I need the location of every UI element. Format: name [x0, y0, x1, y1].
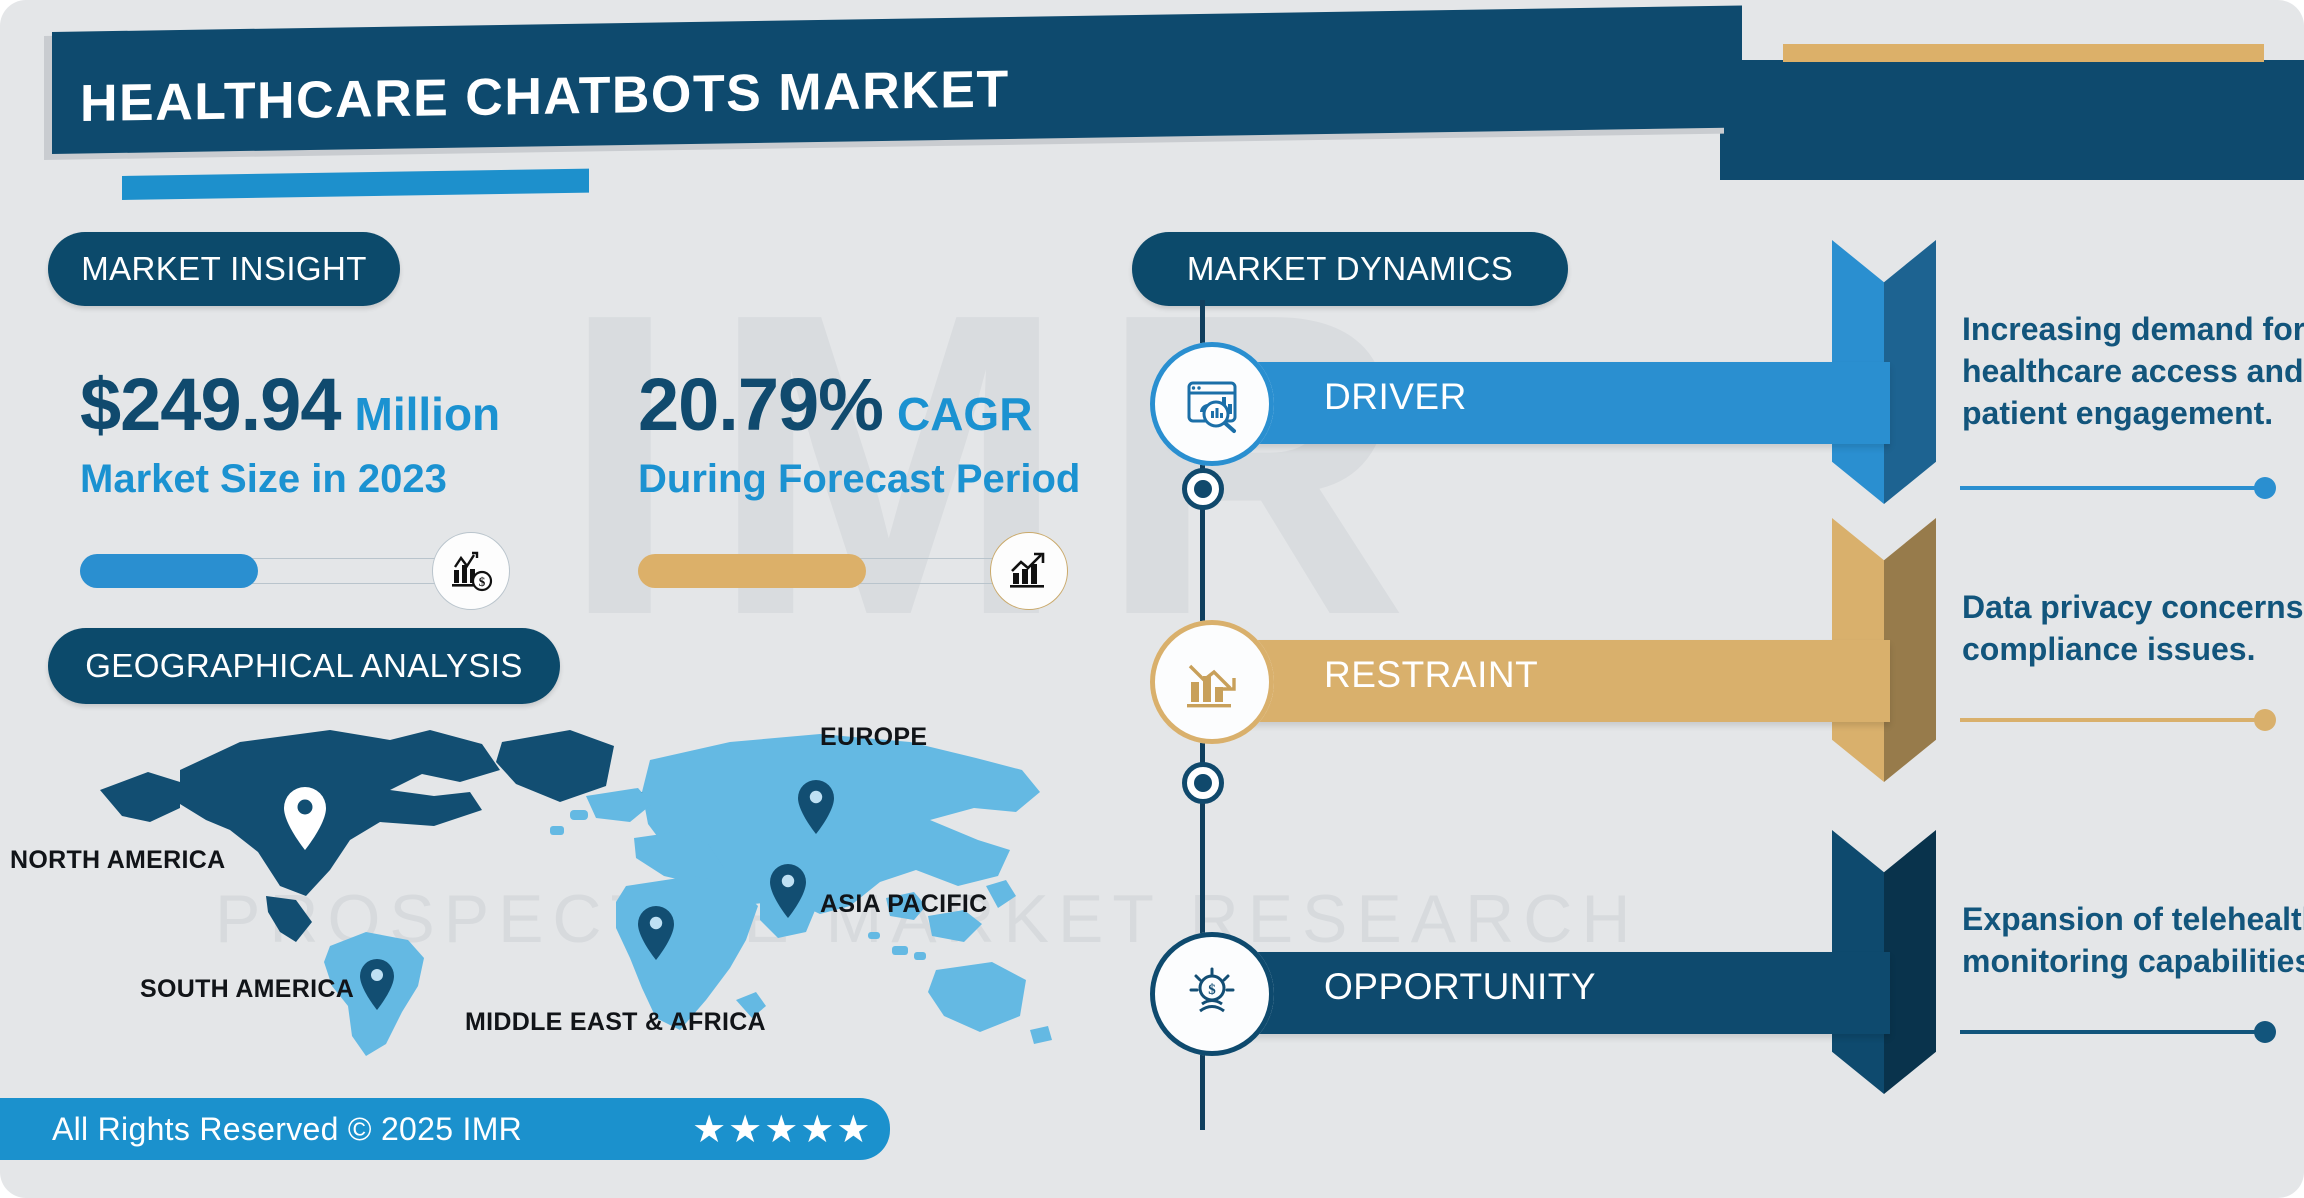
- map-label-north-america: NORTH AMERICA: [10, 846, 225, 875]
- cagr-value: 20.79%: [638, 362, 883, 447]
- ribbon-shade: [1884, 830, 1936, 1094]
- map-region-north-america: [100, 730, 652, 942]
- map-label-europe: EUROPE: [820, 723, 927, 752]
- description-end-dot: [2254, 709, 2276, 731]
- copyright-text: All Rights Reserved © 2025 IMR: [52, 1111, 522, 1148]
- map-label-asia-pacific: ASIA PACIFIC: [820, 890, 988, 919]
- section-heading-market-dynamics: MARKET DYNAMICS: [1132, 232, 1568, 306]
- corner-navy-accent: [1720, 60, 2304, 180]
- footer-bar: All Rights Reserved © 2025 IMR ★★★★★: [0, 1098, 890, 1160]
- growth-arrow-chart-icon: [990, 532, 1068, 610]
- infographic-canvas: IMR PROSPECTIVE MARKET RESEARCH HEALTHCA…: [0, 0, 2304, 1198]
- corner-gold-accent: [1783, 44, 2264, 62]
- market-size-label: Market Size in 2023: [80, 457, 640, 502]
- section-heading-geographical-analysis: GEOGRAPHICAL ANALYSIS: [48, 628, 560, 704]
- dynamics-row-opportunity: $ OPPORTUNITY Expansion of telehealth an…: [1132, 890, 2304, 1130]
- dynamics-description-restraint: Data privacy concerns and regulatory com…: [1962, 586, 2304, 670]
- description-underline: [1960, 486, 2270, 490]
- cagr-unit: CAGR: [897, 387, 1032, 441]
- description-underline: [1960, 1030, 2270, 1034]
- market-size-progress: $: [80, 532, 540, 610]
- cagr-progress: [638, 532, 1098, 610]
- badge-ring: [1150, 932, 1274, 1056]
- world-map: [30, 700, 1060, 1060]
- map-label-south-america: SOUTH AMERICA: [140, 975, 354, 1004]
- dynamics-row-restraint: RESTRAINT Data privacy concerns and regu…: [1132, 578, 2304, 818]
- svg-text:$: $: [479, 574, 486, 589]
- stat-market-size: $249.94 Million Market Size in 2023 $: [80, 362, 640, 610]
- dynamics-description-opportunity: Expansion of telehealth and remote monit…: [1962, 898, 2304, 982]
- badge-ring: [1150, 342, 1274, 466]
- description-underline: [1960, 718, 2270, 722]
- dynamics-bar: [1170, 362, 1890, 444]
- title-underbar-accent: [122, 169, 589, 200]
- dynamics-description-driver: Increasing demand for convenient healthc…: [1962, 308, 2304, 435]
- ribbon-shade: [1884, 518, 1936, 782]
- description-end-dot: [2254, 477, 2276, 499]
- market-size-value: $249.94: [80, 362, 341, 447]
- market-dynamics-panel: DRIVER Increasing demand for convenient …: [1132, 300, 2304, 1198]
- ribbon-shade: [1884, 240, 1936, 504]
- dynamics-label-opportunity: OPPORTUNITY: [1324, 966, 1596, 1008]
- progress-fill: [80, 554, 258, 588]
- dynamics-row-driver: DRIVER Increasing demand for convenient …: [1132, 300, 2304, 540]
- description-end-dot: [2254, 1021, 2276, 1043]
- cagr-label: During Forecast Period: [638, 457, 1198, 502]
- bar-chart-dollar-icon: $: [432, 532, 510, 610]
- progress-fill: [638, 554, 866, 588]
- section-heading-market-insight: MARKET INSIGHT: [48, 232, 400, 306]
- map-label-middle-east-africa: MIDDLE EAST & AFRICA: [465, 1008, 766, 1037]
- star-rating-icon: ★★★★★: [692, 1107, 872, 1152]
- market-size-unit: Million: [355, 387, 501, 441]
- badge-ring: [1150, 620, 1274, 744]
- stat-cagr: 20.79% CAGR During Forecast Period: [638, 362, 1198, 610]
- dynamics-label-restraint: RESTRAINT: [1324, 654, 1538, 696]
- dynamics-label-driver: DRIVER: [1324, 376, 1467, 418]
